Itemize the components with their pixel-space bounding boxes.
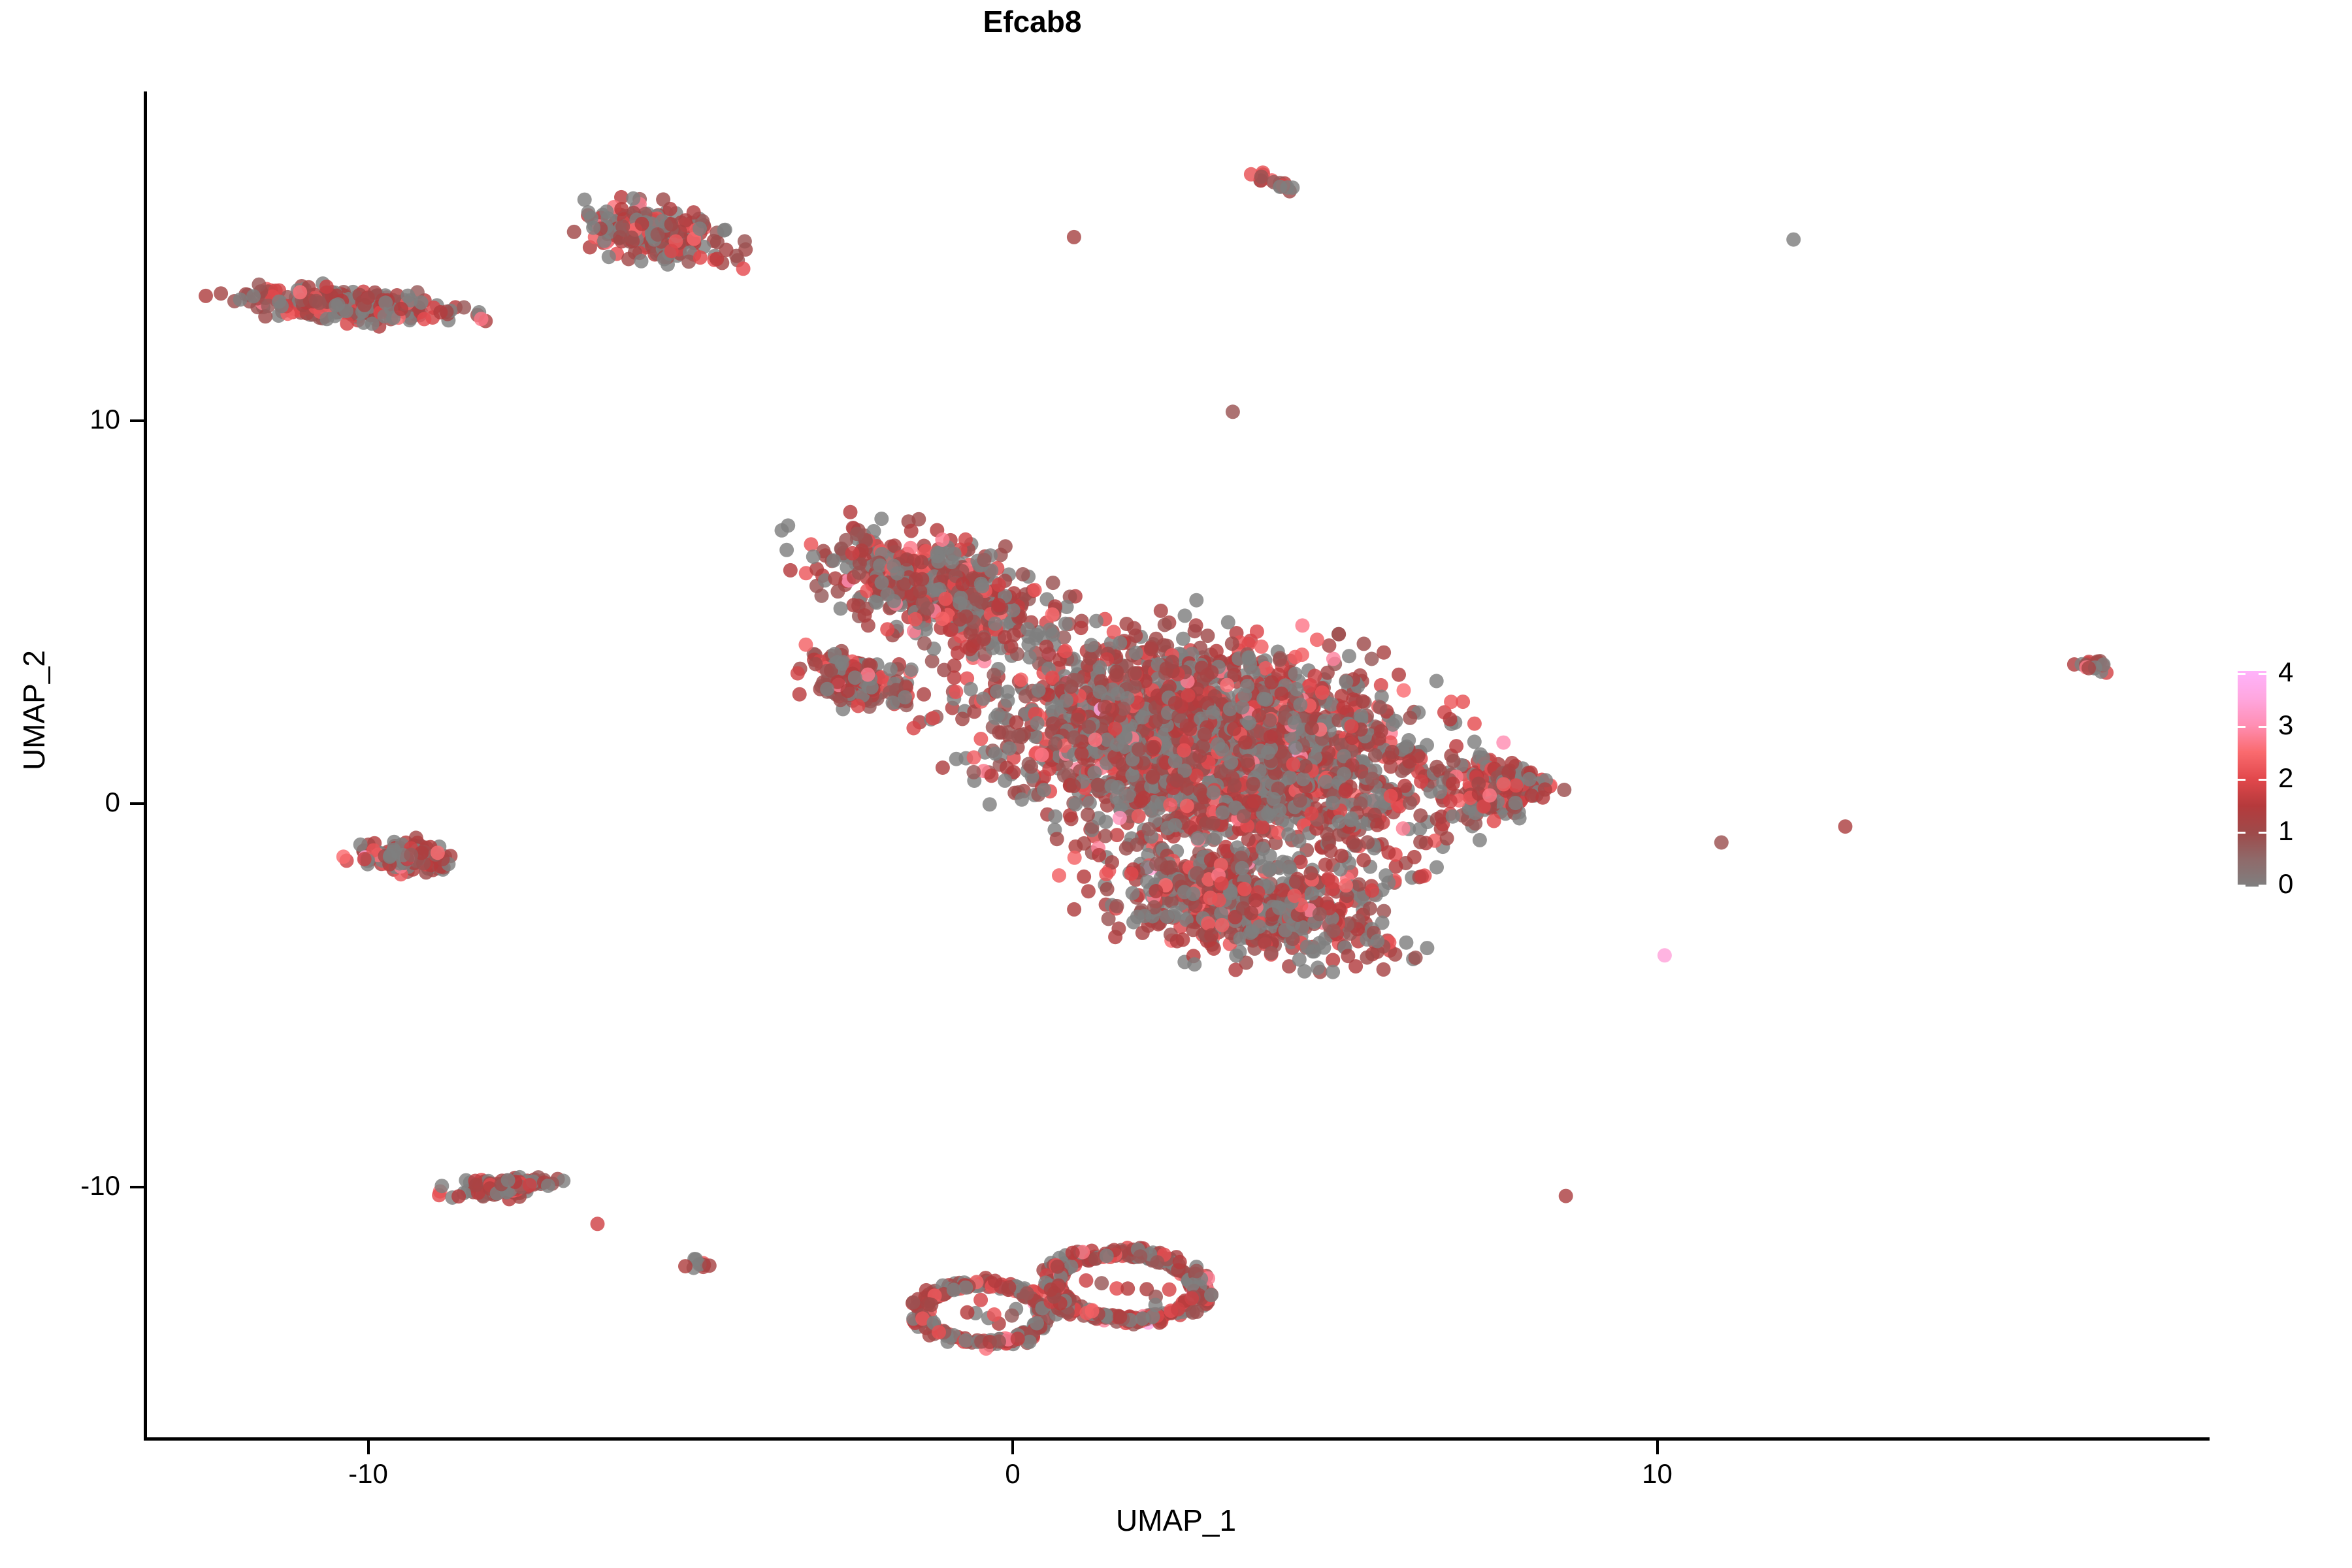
colorbar-tick-left <box>2238 885 2246 887</box>
colorbar-tick-right <box>2259 885 2266 887</box>
y-tick-label: 10 <box>9 404 120 435</box>
colorbar-tick-right <box>2259 673 2266 675</box>
plot-panel <box>145 91 2210 1439</box>
y-axis-title: UMAP_2 <box>16 599 52 821</box>
y-tick-mark <box>130 1186 144 1188</box>
colorbar-tick-left <box>2238 779 2246 781</box>
y-tick-mark <box>130 419 144 422</box>
x-axis-line <box>144 1437 2210 1441</box>
colorbar-label: 3 <box>2278 711 2293 739</box>
colorbar-tick-left <box>2238 832 2246 834</box>
x-axis-title: UMAP_1 <box>1045 1503 1307 1538</box>
scatter-points-layer <box>145 91 2210 1439</box>
y-axis-line <box>144 91 147 1441</box>
colorbar-label: 1 <box>2278 817 2293 845</box>
x-tick-label: -10 <box>303 1458 434 1490</box>
colorbar-label: 0 <box>2278 870 2293 898</box>
page-title: Efcab8 <box>902 4 1163 39</box>
x-tick-label: 0 <box>947 1458 1078 1490</box>
colorbar-tick-right <box>2259 832 2266 834</box>
colorbar-tick-left <box>2238 726 2246 728</box>
y-tick-label: -10 <box>9 1170 120 1201</box>
colorbar-tick-right <box>2259 726 2266 728</box>
x-tick-mark <box>367 1441 370 1454</box>
x-tick-mark <box>1656 1441 1659 1454</box>
colorbar-tick-left <box>2238 673 2246 675</box>
y-tick-mark <box>130 802 144 805</box>
legend-colorbar: 43210 <box>2238 671 2336 887</box>
colorbar-tick-right <box>2259 779 2266 781</box>
x-tick-mark <box>1011 1441 1014 1454</box>
feature-plot-figure: Efcab8 100-10-10010 UMAP_2 UMAP_1 43210 <box>0 0 2352 1568</box>
colorbar-label: 4 <box>2278 659 2293 686</box>
colorbar-label: 2 <box>2278 764 2293 792</box>
x-tick-label: 10 <box>1592 1458 1723 1490</box>
